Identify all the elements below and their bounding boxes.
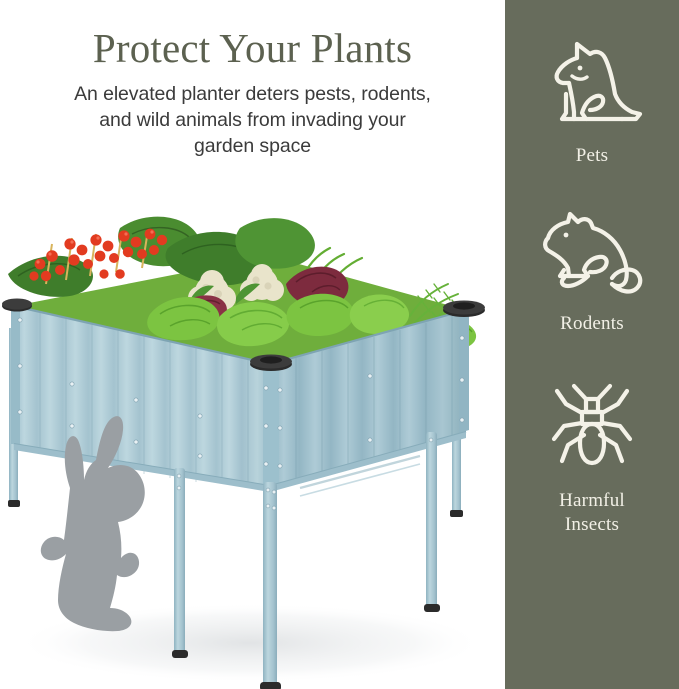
dog-icon	[536, 34, 648, 130]
features-sidebar: Pets Rodents	[505, 0, 679, 689]
feature-label-rodents: Rodents	[560, 312, 624, 336]
mouse-eye-icon	[564, 233, 569, 238]
feature-rodents[interactable]: Rodents	[505, 210, 679, 336]
feature-pets[interactable]: Pets	[505, 34, 679, 168]
corner-post-right	[459, 306, 469, 433]
feature-label-pets: Pets	[576, 144, 608, 168]
feature-insects[interactable]: Harmful Insects	[505, 379, 679, 538]
corner-post-left	[11, 304, 20, 444]
infographic-page: Protect Your Plants An elevated planter …	[0, 0, 679, 689]
corner-cap-center	[250, 355, 292, 372]
page-subtitle: An elevated planter deters pests, rodent…	[68, 81, 438, 159]
product-scene	[0, 188, 505, 689]
main-panel: Protect Your Plants An elevated planter …	[0, 0, 505, 689]
feature-label-insects: Harmful Insects	[559, 489, 625, 538]
dog-eye-icon	[578, 66, 583, 71]
corner-cap-left	[2, 299, 32, 312]
planter-leg-front-right	[424, 432, 440, 612]
corner-cap-right	[443, 301, 485, 318]
insect-icon	[544, 379, 640, 475]
page-title: Protect Your Plants	[0, 0, 505, 72]
mouse-icon	[536, 210, 648, 298]
